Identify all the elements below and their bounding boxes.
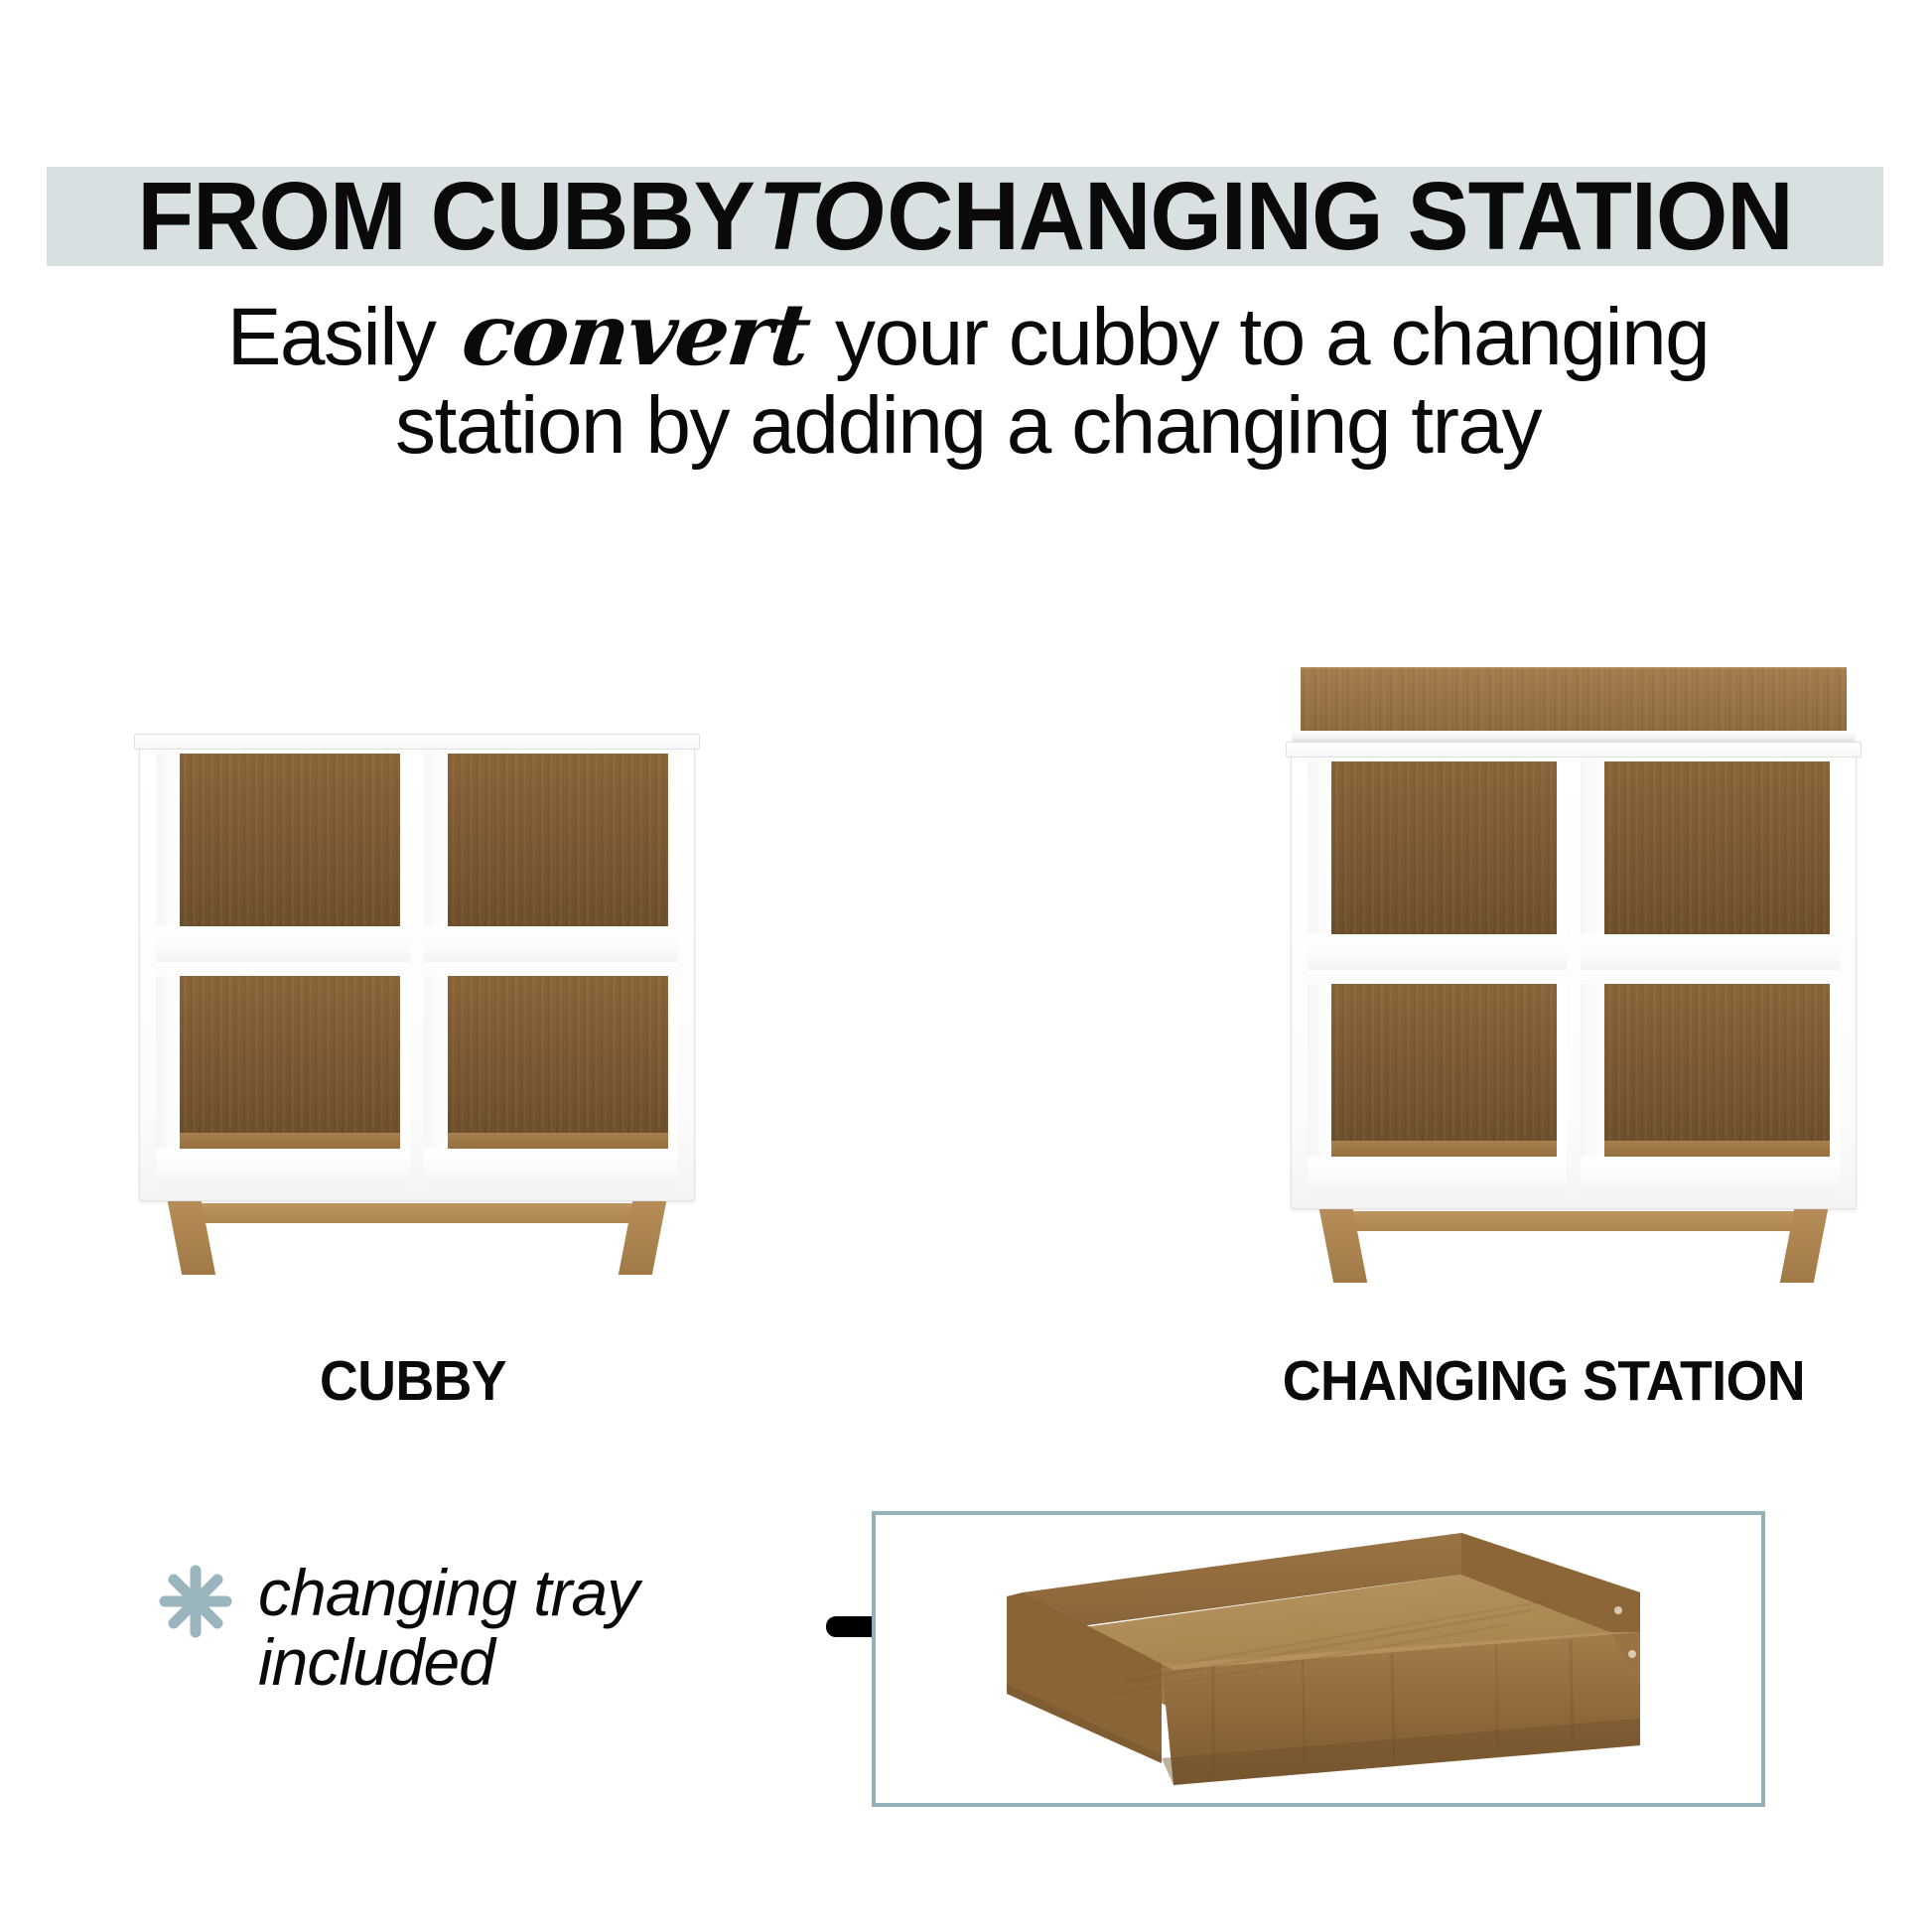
- changing-tray-product-icon: [876, 1515, 1761, 1803]
- cube-wood-back: [448, 754, 668, 926]
- asterisk-icon: [159, 1565, 232, 1643]
- footnote-line2: included: [258, 1625, 494, 1699]
- cube-shelf-floor: [424, 1149, 678, 1184]
- page-title-part1: FROM CUBBY: [137, 161, 755, 272]
- subtitle-line1-pre: Easily: [227, 292, 457, 382]
- cubby-bookcase-icon: [139, 735, 695, 1291]
- cube-top-right: [424, 754, 678, 962]
- subtitle: Easily convert your cubby to a changing …: [179, 290, 1757, 470]
- cube-wood-toe: [1331, 1141, 1557, 1157]
- cube-shelf-floor: [1308, 934, 1567, 970]
- cube-bottom-left: [1308, 984, 1567, 1192]
- footnote-text: changing tray included: [258, 1559, 638, 1698]
- subtitle-line2: station by adding a changing tray: [395, 380, 1541, 471]
- cubby-legs: [1291, 1207, 1857, 1287]
- caption-changing-station: CHANGING STATION: [1283, 1348, 1805, 1414]
- cube-wood-back: [1331, 761, 1557, 934]
- page-title: FROM CUBBY TO CHANGING STATION: [83, 139, 1847, 293]
- changing-tray-on-top: [1301, 667, 1847, 735]
- cube-wood-toe: [180, 1133, 400, 1149]
- cube-shelf-floor: [424, 926, 678, 962]
- cube-wood-toe: [1604, 1141, 1830, 1157]
- leg-rail: [1346, 1211, 1801, 1231]
- product-comparison-stage: [0, 635, 1932, 1330]
- cube-wood-back: [1604, 761, 1830, 934]
- subtitle-script-word: convert: [452, 290, 819, 382]
- cube-shelf-floor: [1581, 1157, 1840, 1192]
- cube-shelf-floor: [1581, 934, 1840, 970]
- cubby-with-changing-tray-icon: [1291, 667, 1857, 1291]
- cubby-top-panel: [134, 734, 700, 750]
- cube-bottom-right: [424, 976, 678, 1184]
- cube-top-right: [1581, 761, 1840, 970]
- cube-wood-toe: [448, 1133, 668, 1149]
- cube-wood-back: [1604, 984, 1830, 1141]
- cube-bottom-right: [1581, 984, 1840, 1192]
- page-title-italic: TO: [755, 161, 887, 272]
- footnote: changing tray included: [159, 1559, 834, 1698]
- page-title-part2: CHANGING STATION: [887, 161, 1792, 272]
- leg-rail: [195, 1203, 639, 1223]
- cube-wood-back: [180, 976, 400, 1133]
- footnote-line1: changing tray: [258, 1556, 638, 1629]
- cube-shelf-floor: [156, 926, 410, 962]
- cube-wood-back: [448, 976, 668, 1133]
- cubby-carcass: [1291, 743, 1857, 1209]
- cube-top-left: [1308, 761, 1567, 970]
- cube-bottom-left: [156, 976, 410, 1184]
- cubby-cube-grid: [1308, 761, 1840, 1192]
- cubby-top-panel: [1286, 742, 1862, 758]
- cube-top-left: [156, 754, 410, 962]
- subtitle-line1-post: your cubby to a changing: [814, 292, 1710, 382]
- cubby-cube-grid: [156, 754, 678, 1184]
- cube-shelf-floor: [1308, 1157, 1567, 1192]
- cube-wood-back: [180, 754, 400, 926]
- cubby-carcass: [139, 735, 695, 1201]
- cube-wood-back: [1331, 984, 1557, 1141]
- cube-shelf-floor: [156, 1149, 410, 1184]
- caption-cubby: CUBBY: [320, 1348, 506, 1414]
- changing-tray-callout-box: [872, 1511, 1765, 1807]
- cubby-legs: [139, 1199, 695, 1279]
